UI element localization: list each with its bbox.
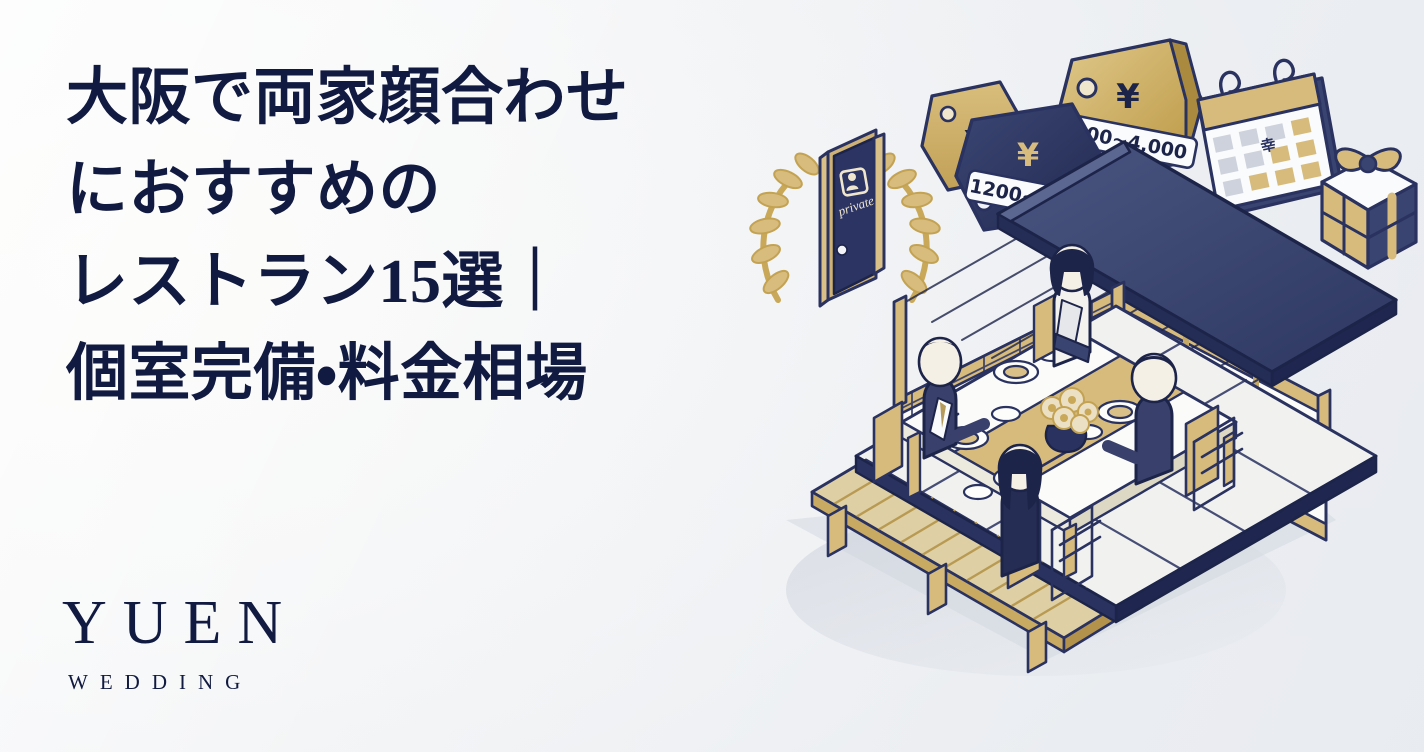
svg-text:¥: ¥ [1116,77,1140,117]
private-door-icon: private [820,130,884,306]
brand-logo: YUEN WEDDING [62,592,298,693]
guest-woman-front [998,445,1042,588]
headline-line-4: 個室完備・料金相場 [66,328,629,420]
hero-illustration: private ¥ 200~4,000 ¥ [716,0,1424,752]
headline-line-3: レストラン15選｜ [66,236,629,328]
brand-logo-mark: YUEN [62,592,298,654]
brand-logo-subtitle: WEDDING [68,672,298,693]
page-title: 大阪で両家顔合わせ におすすめの レストラン15選｜ 個室完備・料金相場 [66,52,629,420]
hero-banner: 大阪で両家顔合わせ におすすめの レストラン15選｜ 個室完備・料金相場 YUE… [0,0,1424,752]
svg-text:¥: ¥ [1017,136,1039,174]
guest-woman-kimono [1034,245,1094,366]
headline-line-1: 大阪で両家顔合わせ [66,52,629,144]
headline-line-2: におすすめの [66,144,629,236]
laurel-leaves-left [749,150,822,297]
